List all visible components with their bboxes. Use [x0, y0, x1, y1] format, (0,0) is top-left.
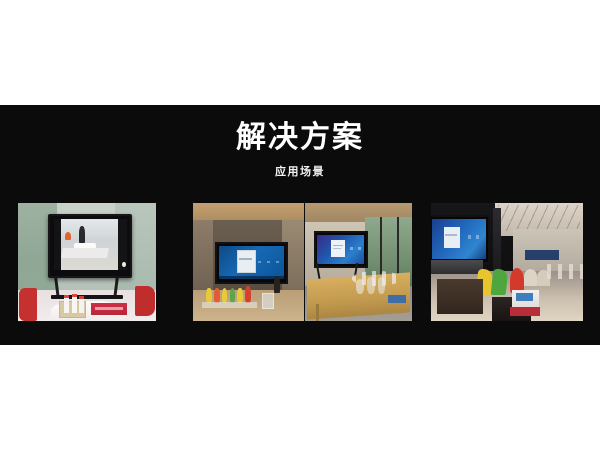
- stand-base: [51, 295, 123, 299]
- screen-window: [444, 227, 460, 248]
- lamp-1: [524, 269, 538, 286]
- person-standing: [274, 276, 280, 293]
- page-title: 解决方案: [0, 120, 600, 156]
- wall-display: [431, 215, 490, 264]
- screen-table: [61, 248, 109, 258]
- solutions-hero-panel: 解决方案 应用场景: [0, 105, 600, 345]
- background-tables: [547, 264, 583, 278]
- page-subtitle: 应用场景: [0, 165, 600, 179]
- table-card-text: [95, 307, 123, 311]
- prop-pin-6: [245, 286, 251, 304]
- dark-desk-left: [437, 279, 483, 314]
- box-label-blue: [516, 293, 533, 301]
- screen-figure-person: [79, 226, 86, 244]
- table-booklet: [388, 295, 405, 303]
- interactive-display: [48, 214, 132, 278]
- water-bottle-1: [64, 295, 70, 313]
- display-screen: [317, 235, 364, 264]
- credenza: [431, 260, 483, 274]
- foreground-glassware: [262, 293, 274, 309]
- prop-pin-1: [206, 288, 212, 303]
- screen-badge: [122, 262, 126, 267]
- table-leg: [316, 304, 319, 321]
- screen-window: [237, 250, 256, 273]
- prop-pin-3: [222, 288, 228, 303]
- gallery-photo-wood-hall-large-display[interactable]: [193, 203, 304, 321]
- display-on-stand: [314, 231, 368, 268]
- water-bottle-3: [79, 296, 85, 313]
- ceiling-grid: [498, 205, 580, 231]
- gallery-photo-open-lounge-display[interactable]: [431, 203, 583, 321]
- chair-red-right: [135, 286, 154, 317]
- glass-2: [367, 277, 374, 294]
- screen-figure-orange: [65, 232, 71, 240]
- screen-desktop-icons: [258, 261, 280, 264]
- prop-pin-2: [214, 288, 220, 303]
- gallery-photo-meeting-room-interactive-display[interactable]: [18, 203, 156, 321]
- screen-window-line-1: [333, 245, 343, 246]
- cafe-counter: [525, 250, 558, 259]
- photo-4-scene: [431, 203, 583, 321]
- scenario-gallery: [0, 203, 600, 321]
- screen-desktop-icons: [350, 247, 362, 250]
- photo-1-scene: [18, 203, 156, 321]
- chair-red-left: [19, 288, 37, 321]
- screen-desktop-icons: [468, 235, 483, 239]
- water-bottle-2: [72, 294, 78, 314]
- chair-green: [490, 269, 508, 295]
- gallery-photo-training-room-display-table[interactable]: [305, 203, 412, 321]
- photo-3-scene: [305, 203, 412, 321]
- display-screen: [219, 246, 284, 279]
- box-label-red: [510, 307, 540, 316]
- screen-window-text: [239, 258, 252, 260]
- glass-3: [378, 277, 385, 294]
- screen-window-line: [445, 234, 457, 236]
- display-screen: [432, 219, 486, 258]
- prop-pin-5: [237, 288, 243, 303]
- glass-1: [356, 279, 363, 294]
- screen-sidebar-left: [54, 219, 61, 271]
- prop-pin-4: [230, 288, 236, 303]
- display-screen: [54, 219, 128, 271]
- foreground-table: [202, 302, 258, 308]
- photo-2-scene: [193, 203, 304, 321]
- screen-window-line-2: [333, 248, 342, 249]
